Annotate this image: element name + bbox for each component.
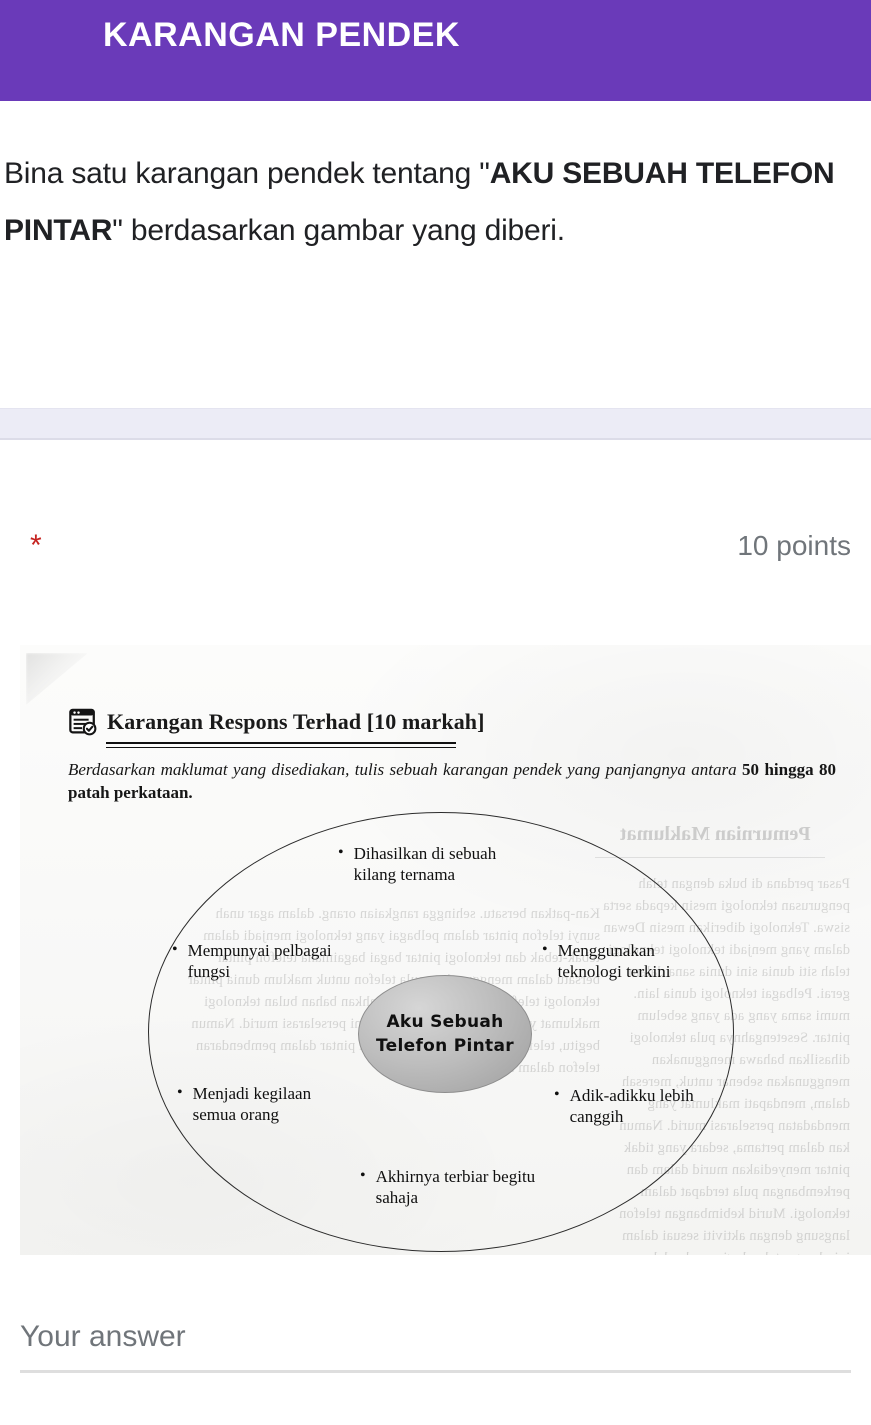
prompt-part-1: Bina satu karangan pendek tentang " [4,157,490,190]
bullet-dot-icon: • [554,1085,560,1105]
diagram-center-ellipse: Aku Sebuah Telefon Pintar [358,975,532,1093]
bullet-text: Menjadi kegilaan semua orang [193,1083,312,1125]
bullet-dot-icon: • [338,843,344,863]
diagram-bullet-bottom: • Akhirnya terbiar begitu sahaja [360,1166,535,1208]
question-prompt-section: Bina satu karangan pendek tentang "AKU S… [0,101,871,259]
ghost-heading: Pemurnian Maklumat [620,823,811,846]
worksheet-heading-text: Karangan Respons Terhad [10 markah] [107,709,485,735]
app-header: KARANGAN PENDEK [0,0,871,101]
bullet-dot-icon: • [360,1166,366,1186]
points-label: 10 points [737,530,851,562]
required-asterisk: * [30,531,42,561]
section-divider-band [0,408,871,440]
question-prompt-text: Bina satu karangan pendek tentang "AKU S… [4,145,859,259]
diagram-bullet-top: • Dihasilkan di sebuah kilang ternama [338,843,496,885]
page-fold-artifact [26,653,88,705]
bullet-text: Menggunakan teknologi terkini [558,940,671,982]
answer-block [0,1320,871,1373]
question-image: Pemurnian Maklumat Pasar perdana di buka… [20,645,871,1255]
bullet-dot-icon: • [172,940,178,960]
scanned-page: Pemurnian Maklumat Pasar perdana di buka… [20,645,871,1255]
bullet-text: Akhirnya terbiar begitu sahaja [376,1166,536,1208]
question-meta-row: * 10 points [0,522,871,570]
diagram-bullet-left-upper: • Mempunyai pelbagai fungsi [172,940,332,982]
diagram-bullet-right-lower: • Adik-adikku lebih canggih [554,1085,694,1127]
worksheet-instruction: Berdasarkan maklumat yang disediakan, tu… [68,758,836,804]
bullet-text: Dihasilkan di sebuah kilang ternama [354,843,497,885]
center-label-line-2: Telefon Pintar [376,1034,514,1058]
document-check-icon [68,707,98,737]
answer-input[interactable] [20,1320,851,1373]
ghost-rule-1 [595,857,825,858]
diagram-bullet-left-lower: • Menjadi kegilaan semua orang [177,1083,311,1125]
worksheet-heading-underline [106,742,456,748]
center-label-line-1: Aku Sebuah [386,1010,503,1034]
instruction-part-1: Berdasarkan maklumat yang disediakan, tu… [68,760,742,779]
page-title: KARANGAN PENDEK [103,14,460,56]
prompt-part-3: " berdasarkan gambar yang diberi. [112,214,565,247]
bullet-text: Mempunyai pelbagai fungsi [188,940,332,982]
diagram-bullet-right-upper: • Menggunakan teknologi terkini [542,940,670,982]
bullet-dot-icon: • [177,1083,183,1103]
bullet-dot-icon: • [542,940,548,960]
worksheet-heading-row: Karangan Respons Terhad [10 markah] [68,707,485,737]
bullet-text: Adik-adikku lebih canggih [570,1085,694,1127]
